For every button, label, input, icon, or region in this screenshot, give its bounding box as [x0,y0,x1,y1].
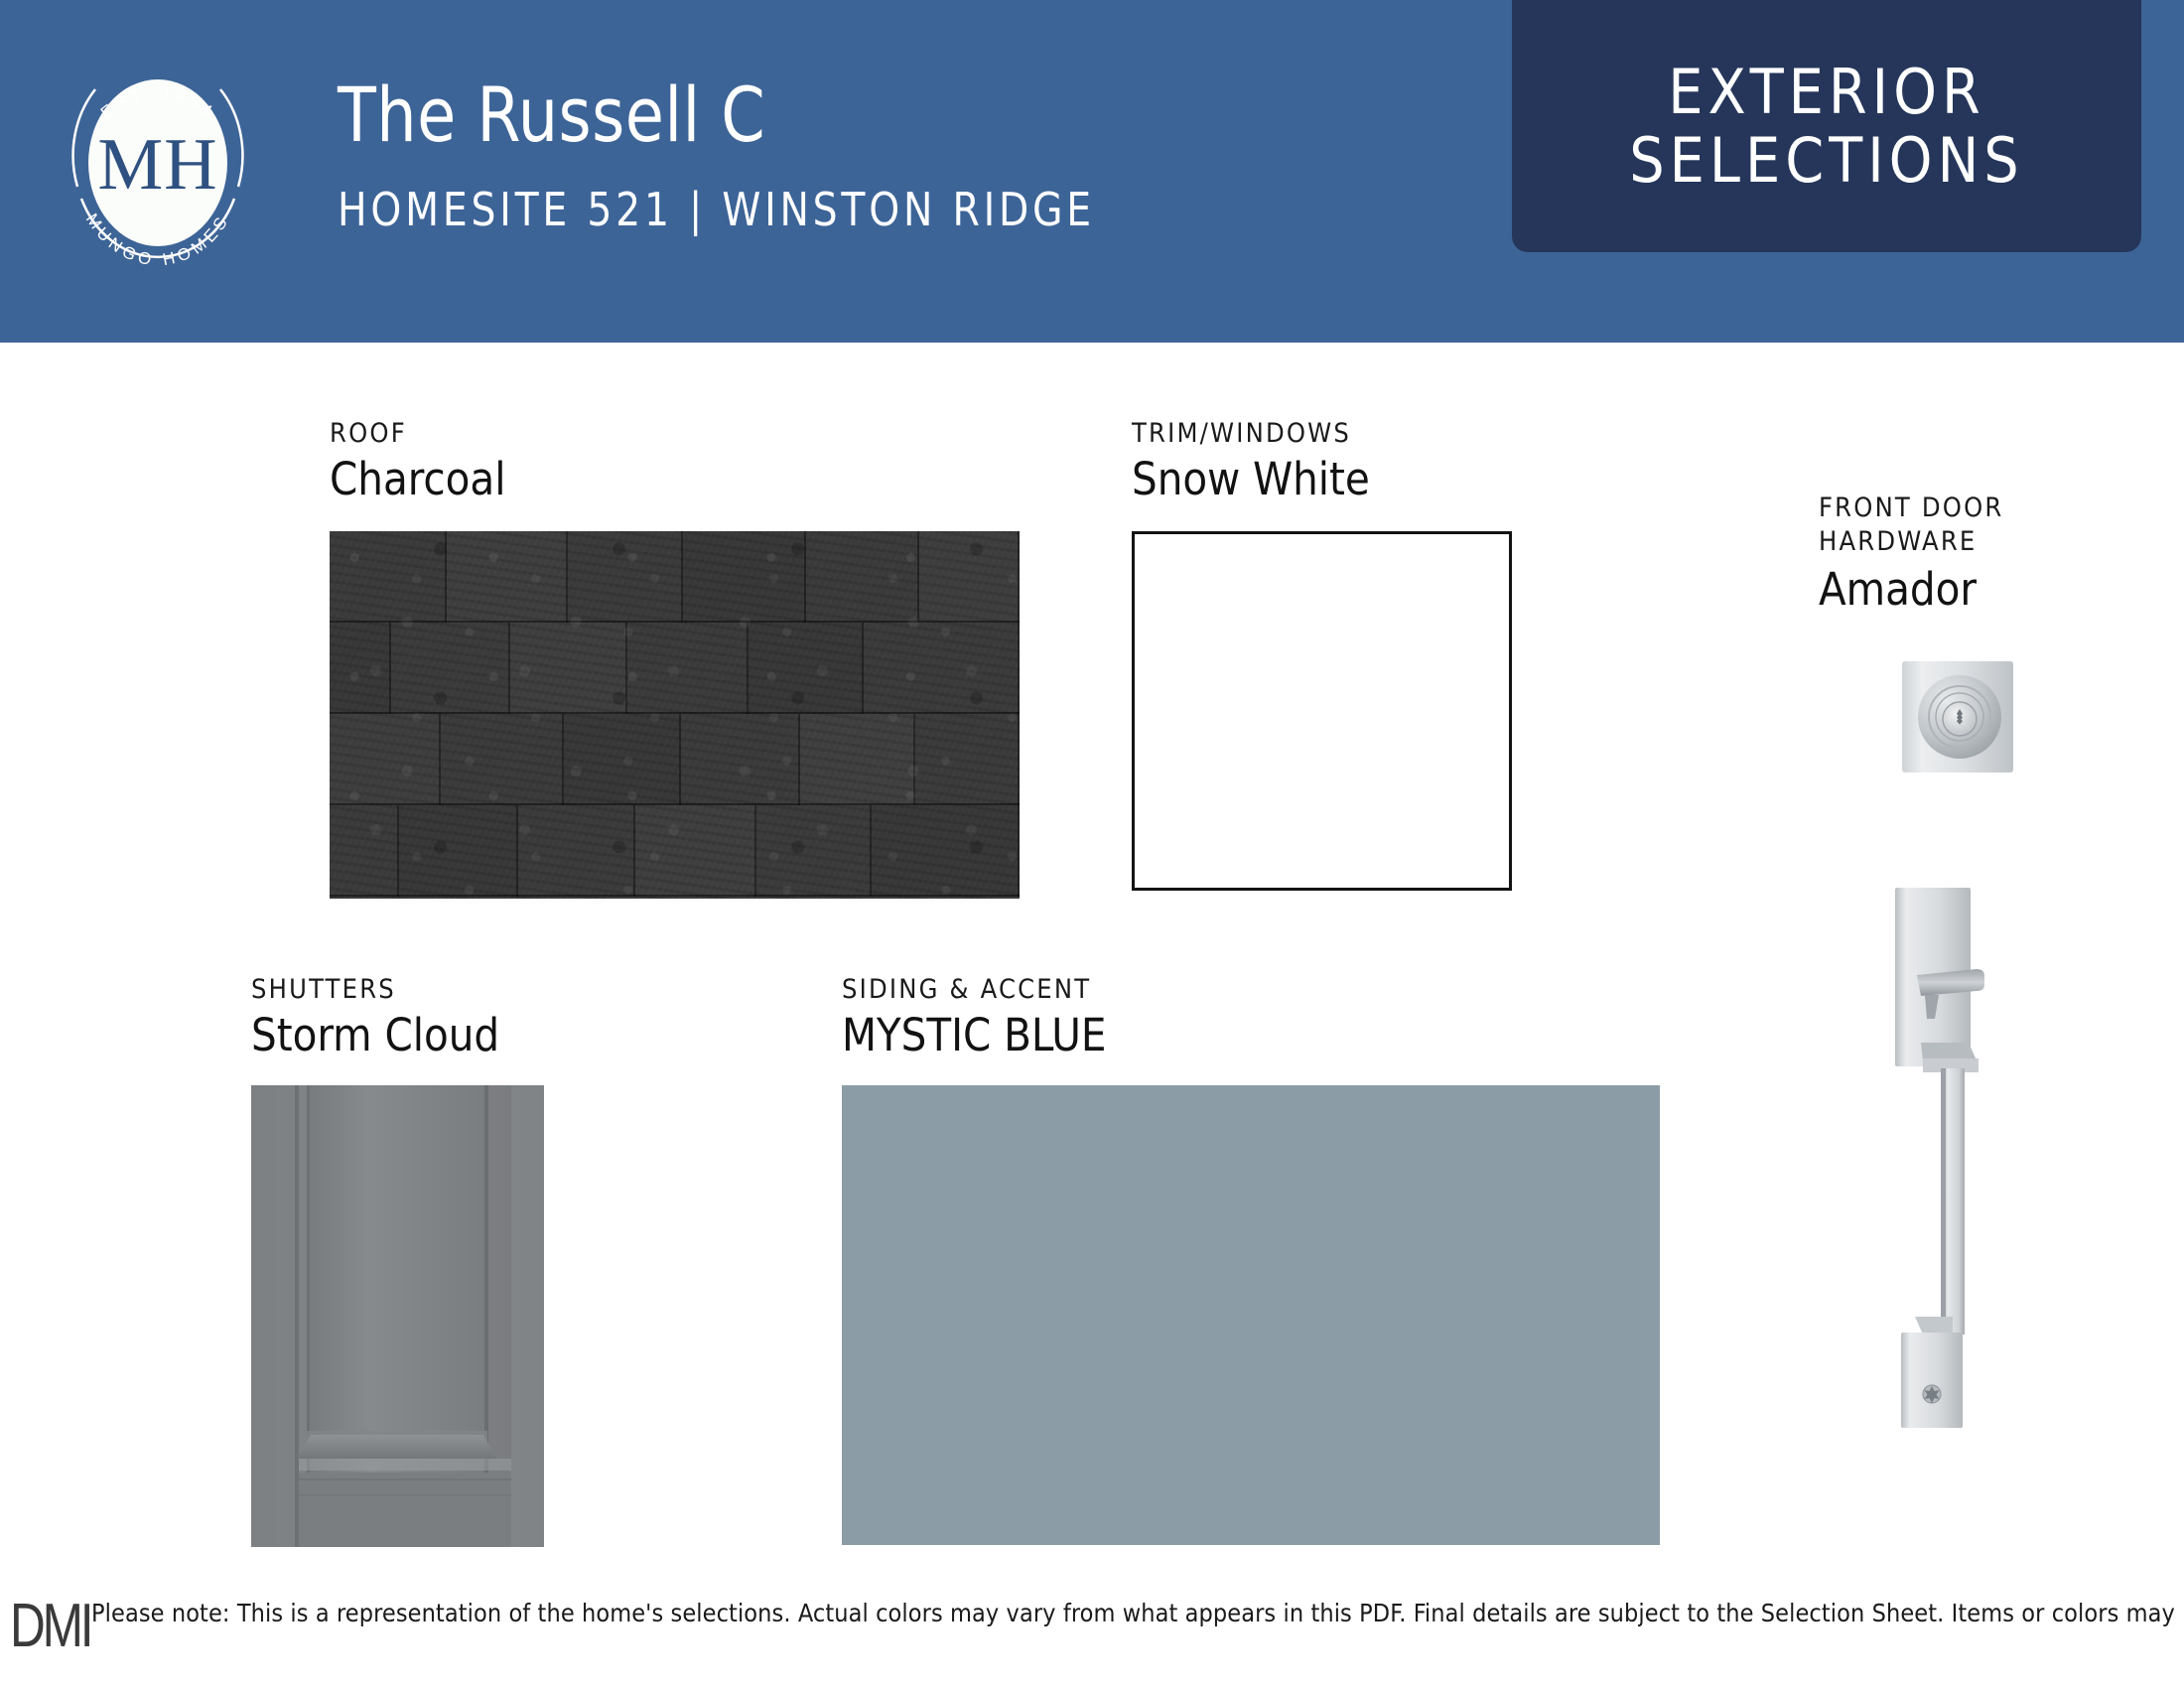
logo-icon: MH EST. 1954 MUNGO HOMES [48,18,268,306]
shutters-swatch [251,1085,544,1547]
trim-swatch [1132,531,1512,891]
disclaimer-text: Please note: This is a representation of… [91,1599,2184,1627]
home-plan-title: The Russell C [338,77,1079,153]
siding-caption: SIDING & ACCENT MYSTIC BLUE [842,974,1106,1061]
page-footer: Please note: This is a representation of… [0,1599,2184,1638]
svg-text:MH: MH [97,124,217,206]
hardware-selection-name: Amador [1819,563,2004,616]
trim-category-label: TRIM/WINDOWS [1132,418,1370,449]
shutters-category-label: SHUTTERS [251,974,499,1005]
title-block: The Russell C HOMESITE 521 | WINSTON RID… [338,77,1135,236]
front-door-hardware-caption: FRONT DOOR HARDWARE Amador [1819,492,2004,616]
roof-caption: ROOF Charcoal [330,418,505,505]
door-handleset-icon [1891,884,2035,1440]
hardware-category-label-line1: FRONT DOOR [1819,492,2004,525]
roof-category-label: ROOF [330,418,505,449]
siding-category-label: SIDING & ACCENT [842,974,1106,1005]
roof-selection-name: Charcoal [330,453,505,505]
shutters-caption: SHUTTERS Storm Cloud [251,974,499,1061]
siding-swatch [842,1085,1660,1545]
mungo-homes-logo: MH EST. 1954 MUNGO HOMES [48,18,268,306]
roof-swatch [330,531,1020,899]
section-badge-label: EXTERIOR SELECTIONS [1629,58,2023,196]
shutters-selection-name: Storm Cloud [251,1009,499,1061]
trim-caption: TRIM/WINDOWS Snow White [1132,418,1370,505]
section-badge: EXTERIOR SELECTIONS [1512,0,2141,252]
deadbolt-icon [1896,655,2019,778]
homesite-community-subtitle: HOMESITE 521 | WINSTON RIDGE [338,183,1095,236]
page-header: MH EST. 1954 MUNGO HOMES The Russell C H… [0,0,2184,343]
hardware-category-label-line2: HARDWARE [1819,525,2004,559]
raised-panel-shutter-icon [251,1085,544,1547]
shingle-speckle-overlay [330,531,1020,899]
trim-selection-name: Snow White [1132,453,1370,505]
siding-selection-name: MYSTIC BLUE [842,1009,1106,1061]
selections-grid: ROOF Charcoal [0,343,2184,1688]
